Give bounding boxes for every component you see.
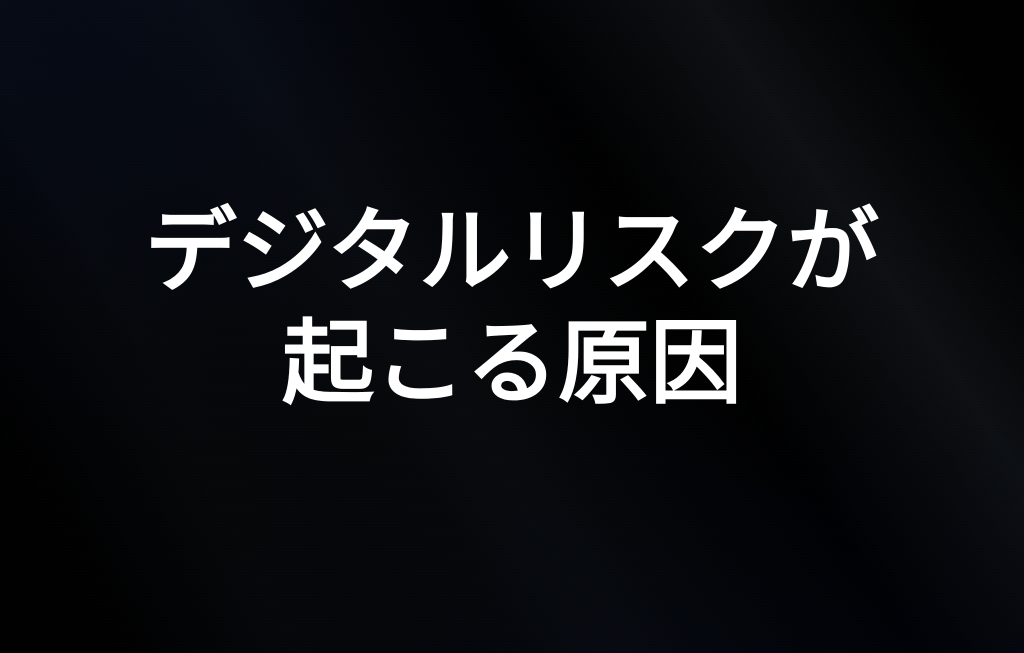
headline-line-2: 起こる原因 [0,308,1024,420]
headline-line-1: デジタルリスクが [0,196,1024,308]
slide-canvas: デジタルリスクが 起こる原因 [0,0,1024,653]
slide-headline: デジタルリスクが 起こる原因 [0,196,1024,420]
